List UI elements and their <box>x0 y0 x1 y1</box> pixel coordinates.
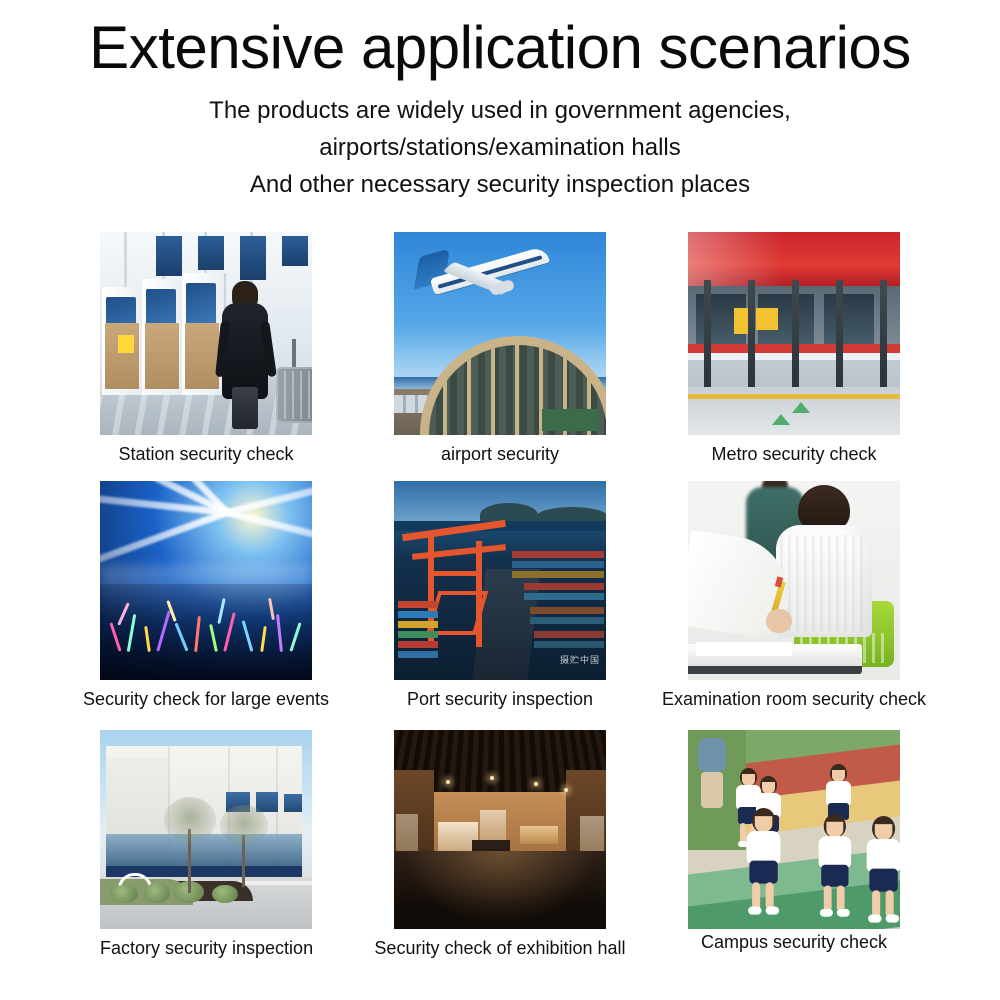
gallery-row: Security check for large events <box>0 481 1000 730</box>
scenario-caption: Security check for large events <box>60 688 352 710</box>
scenario-card-port[interactable]: 摄贮中国 Port security inspection <box>394 481 606 710</box>
subtitle-line-3: And other necessary security inspection … <box>0 166 1000 203</box>
scenario-card-airport[interactable]: airport security <box>394 232 606 465</box>
large-event-security-photo <box>100 481 312 680</box>
exhibition-hall-security-photo <box>394 730 606 929</box>
scenario-card-examination-room[interactable]: Examination room security check <box>688 481 900 710</box>
scenario-gallery: Station security check <box>0 232 1000 979</box>
metro-security-check-photo <box>688 232 900 435</box>
station-security-check-photo <box>100 232 312 435</box>
scenario-card-factory[interactable]: Factory security inspection <box>100 730 312 959</box>
scenario-caption: Examination room security check <box>648 688 940 710</box>
subtitle-line-2: airports/stations/examination halls <box>0 129 1000 166</box>
scenario-card-station[interactable]: Station security check <box>100 232 312 465</box>
subtitle-line-1: The products are widely used in governme… <box>0 92 1000 129</box>
scenario-caption: Security check of exhibition hall <box>354 937 646 959</box>
examination-room-security-photo <box>688 481 900 680</box>
gallery-row: Factory security inspection <box>0 730 1000 979</box>
factory-security-inspection-photo <box>100 730 312 929</box>
gallery-row: Station security check <box>0 232 1000 481</box>
airport-security-photo <box>394 232 606 435</box>
scenario-caption: airport security <box>394 443 606 465</box>
campus-security-check-photo <box>688 730 900 929</box>
page-title: Extensive application scenarios <box>0 14 1000 82</box>
scenario-caption: Station security check <box>100 443 312 465</box>
scenario-caption: Factory security inspection <box>100 937 312 959</box>
scenario-card-exhibition-hall[interactable]: Security check of exhibition hall <box>394 730 606 959</box>
scenario-card-metro[interactable]: Metro security check <box>688 232 900 465</box>
poster-page: Extensive application scenarios The prod… <box>0 0 1000 1000</box>
port-security-inspection-photo: 摄贮中国 <box>394 481 606 680</box>
scenario-caption: Metro security check <box>688 443 900 465</box>
scenario-card-large-events[interactable]: Security check for large events <box>100 481 312 710</box>
scenario-caption: Port security inspection <box>394 688 606 710</box>
subtitle-block: The products are widely used in governme… <box>0 92 1000 203</box>
port-watermark: 摄贮中国 <box>560 653 600 666</box>
scenario-card-campus[interactable]: Campus security check <box>688 730 900 953</box>
scenario-caption: Campus security check <box>688 931 900 953</box>
